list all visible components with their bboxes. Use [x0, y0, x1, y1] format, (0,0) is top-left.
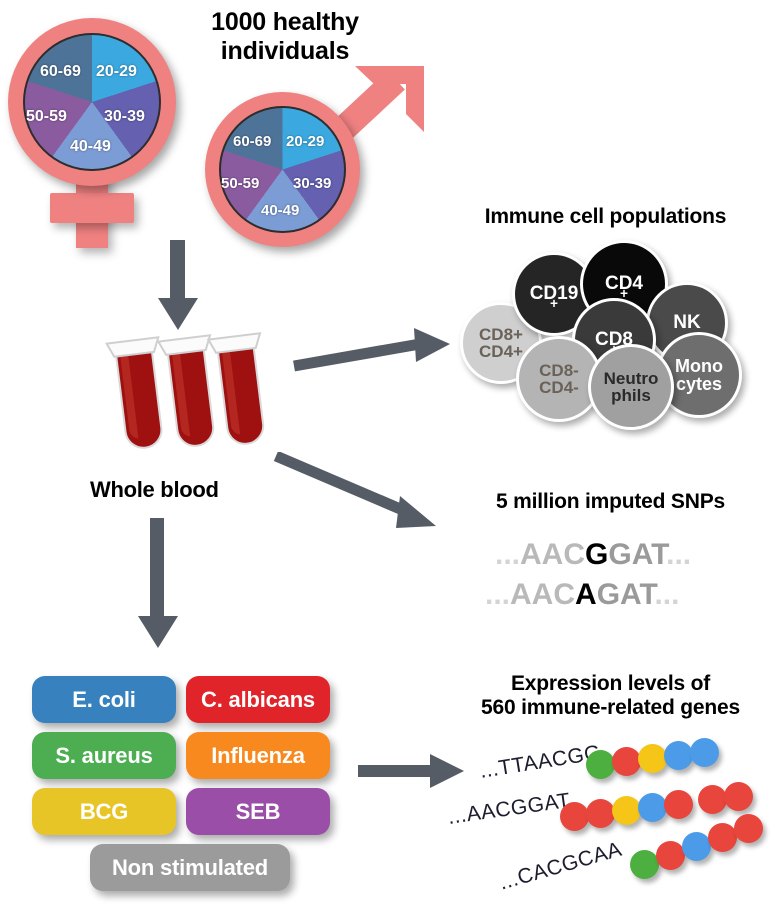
immune-cell-neutrophils: Neutro phils [588, 344, 674, 430]
expression-strand-1-sequence: ...TTAACGG [478, 741, 603, 784]
expression-strand-2-bead-7 [724, 782, 753, 811]
female-pie-label-20-29: 20-29 [96, 63, 137, 81]
male-symbol: 20-29 30-39 40-49 50-59 60-69 [205, 82, 415, 247]
arrow-blood-to-immune-cells [292, 322, 452, 372]
male-pie-label-40-49: 40-49 [261, 202, 299, 219]
expression-strand-3-bead-2 [656, 841, 685, 870]
stimulation-box-seb[interactable]: SEB [186, 788, 330, 835]
snp-row1-left: AAC [520, 538, 585, 571]
immune-cell-cluster: CD8+ CD4+ CD19+ CD4+ NK CD8+ Mono cytes … [460, 240, 750, 420]
figure-canvas: 1000 healthy individuals 20-29 30-39 40-… [0, 0, 771, 922]
stimulation-box-bcg[interactable]: BCG [32, 788, 176, 835]
male-pie-label-50-59: 50-59 [221, 175, 259, 192]
snp-row1-prefix: ... [495, 538, 520, 571]
cohort-title-line1: 1000 healthy [170, 8, 400, 37]
arrow-blood-to-snps [272, 452, 442, 532]
male-pie-label-30-39: 30-39 [293, 175, 331, 192]
expression-strand-3-sequence: ...CACGCAA [497, 838, 625, 896]
expression-title-line1: Expression levels of [450, 672, 771, 696]
stimulation-box-s-aureus[interactable]: S. aureus [32, 732, 176, 779]
snp-row2-suffix: ... [654, 578, 679, 611]
stimulation-box-non-stimulated[interactable]: Non stimulated [90, 844, 290, 891]
male-pie-label-20-29: 20-29 [286, 133, 324, 150]
snp-sequence-allele-g: ...AACGGAT... [495, 538, 691, 572]
male-pie-label-60-69: 60-69 [233, 133, 271, 150]
cohort-title: 1000 healthy individuals [170, 8, 400, 66]
expression-strand-1-bead-3 [638, 744, 667, 773]
whole-blood-label: Whole blood [90, 477, 219, 503]
snp-row2-variant: A [575, 578, 597, 611]
stimulation-box-c-albicans[interactable]: C. albicans [186, 676, 330, 723]
expression-strand-1-bead-2 [612, 747, 641, 776]
snp-row1-right: GAT [608, 538, 666, 571]
expression-strand-1-bead-1 [586, 750, 615, 779]
female-pie-label-30-39: 30-39 [104, 108, 145, 126]
expression-strand-3-bead-4 [708, 823, 737, 852]
expression-title-line2: 560 immune-related genes [450, 696, 771, 720]
stimulation-box-influenza[interactable]: Influenza [186, 732, 330, 779]
immune-cell-title: Immune cell populations [440, 205, 771, 229]
expression-strand-1-bead-4 [664, 741, 693, 770]
female-symbol: 20-29 30-39 40-49 50-59 60-69 [8, 18, 188, 238]
whole-blood-tubes [100, 332, 280, 467]
expression-strand-3: ...CACGCAA [500, 820, 771, 900]
expression-strand-2-bead-4 [638, 793, 667, 822]
stimulation-box-e-coli[interactable]: E. coli [32, 676, 176, 723]
cohort-title-line2: individuals [170, 37, 400, 66]
expression-strand-3-bead-3 [682, 832, 711, 861]
expression-strand-2-bead-6 [698, 785, 727, 814]
snp-row2-right: GAT [597, 578, 655, 611]
female-pie-label-60-69: 60-69 [40, 63, 81, 81]
arrow-blood-to-stimulation [128, 518, 188, 650]
expression-strand-1-bead-5 [690, 738, 719, 767]
snp-sequence-allele-a: ...AACAGAT... [485, 578, 679, 612]
expression-strand-2-bead-5 [664, 790, 693, 819]
snp-title: 5 million imputed SNPs [450, 490, 771, 514]
snp-row2-left: AAC [510, 578, 575, 611]
snp-row2-prefix: ... [485, 578, 510, 611]
female-pie-label-40-49: 40-49 [70, 138, 111, 156]
expression-strand-3-bead-1 [630, 850, 659, 879]
female-symbol-stem-cross [50, 193, 134, 223]
female-pie-label-50-59: 50-59 [26, 108, 67, 126]
expression-strand-3-bead-5 [734, 814, 763, 843]
arrow-cohort-to-blood [148, 240, 208, 332]
snp-row1-variant: G [585, 538, 608, 571]
snp-row1-suffix: ... [666, 538, 691, 571]
expression-title: Expression levels of 560 immune-related … [450, 672, 771, 720]
